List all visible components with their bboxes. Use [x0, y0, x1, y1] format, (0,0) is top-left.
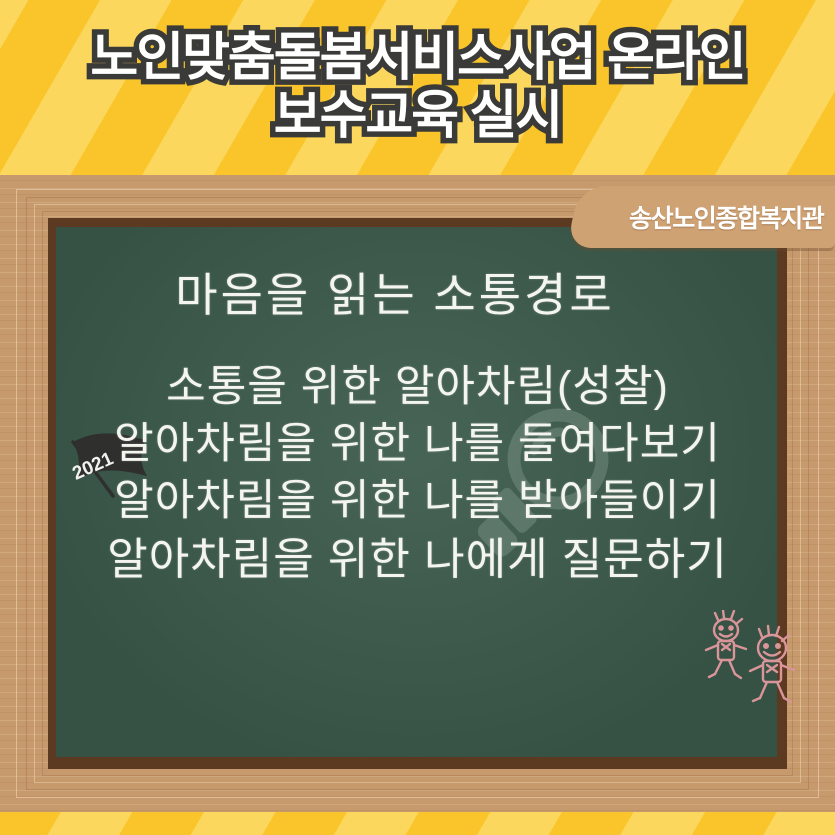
- chalkboard-frame: 2021: [0, 175, 835, 812]
- organization-ribbon: 송산노인종합복지관: [566, 186, 835, 248]
- stick-figure-doodles: [700, 610, 800, 710]
- magnifying-glass-icon: [472, 407, 618, 567]
- poster-title-line-1: 노인맞춤돌봄서비스사업 온라인: [90, 31, 744, 87]
- poster-header: 노인맞춤돌봄서비스사업 온라인 보수교육 실시: [0, 0, 835, 175]
- year-flag-badge: 2021: [55, 418, 160, 508]
- organization-name-label: 송산노인종합복지관: [629, 199, 835, 235]
- poster-canvas: 노인맞춤돌봄서비스사업 온라인 보수교육 실시 2021: [0, 0, 835, 835]
- chalkboard-surface: [56, 227, 777, 757]
- poster-title-line-2: 보수교육 실시: [274, 89, 562, 145]
